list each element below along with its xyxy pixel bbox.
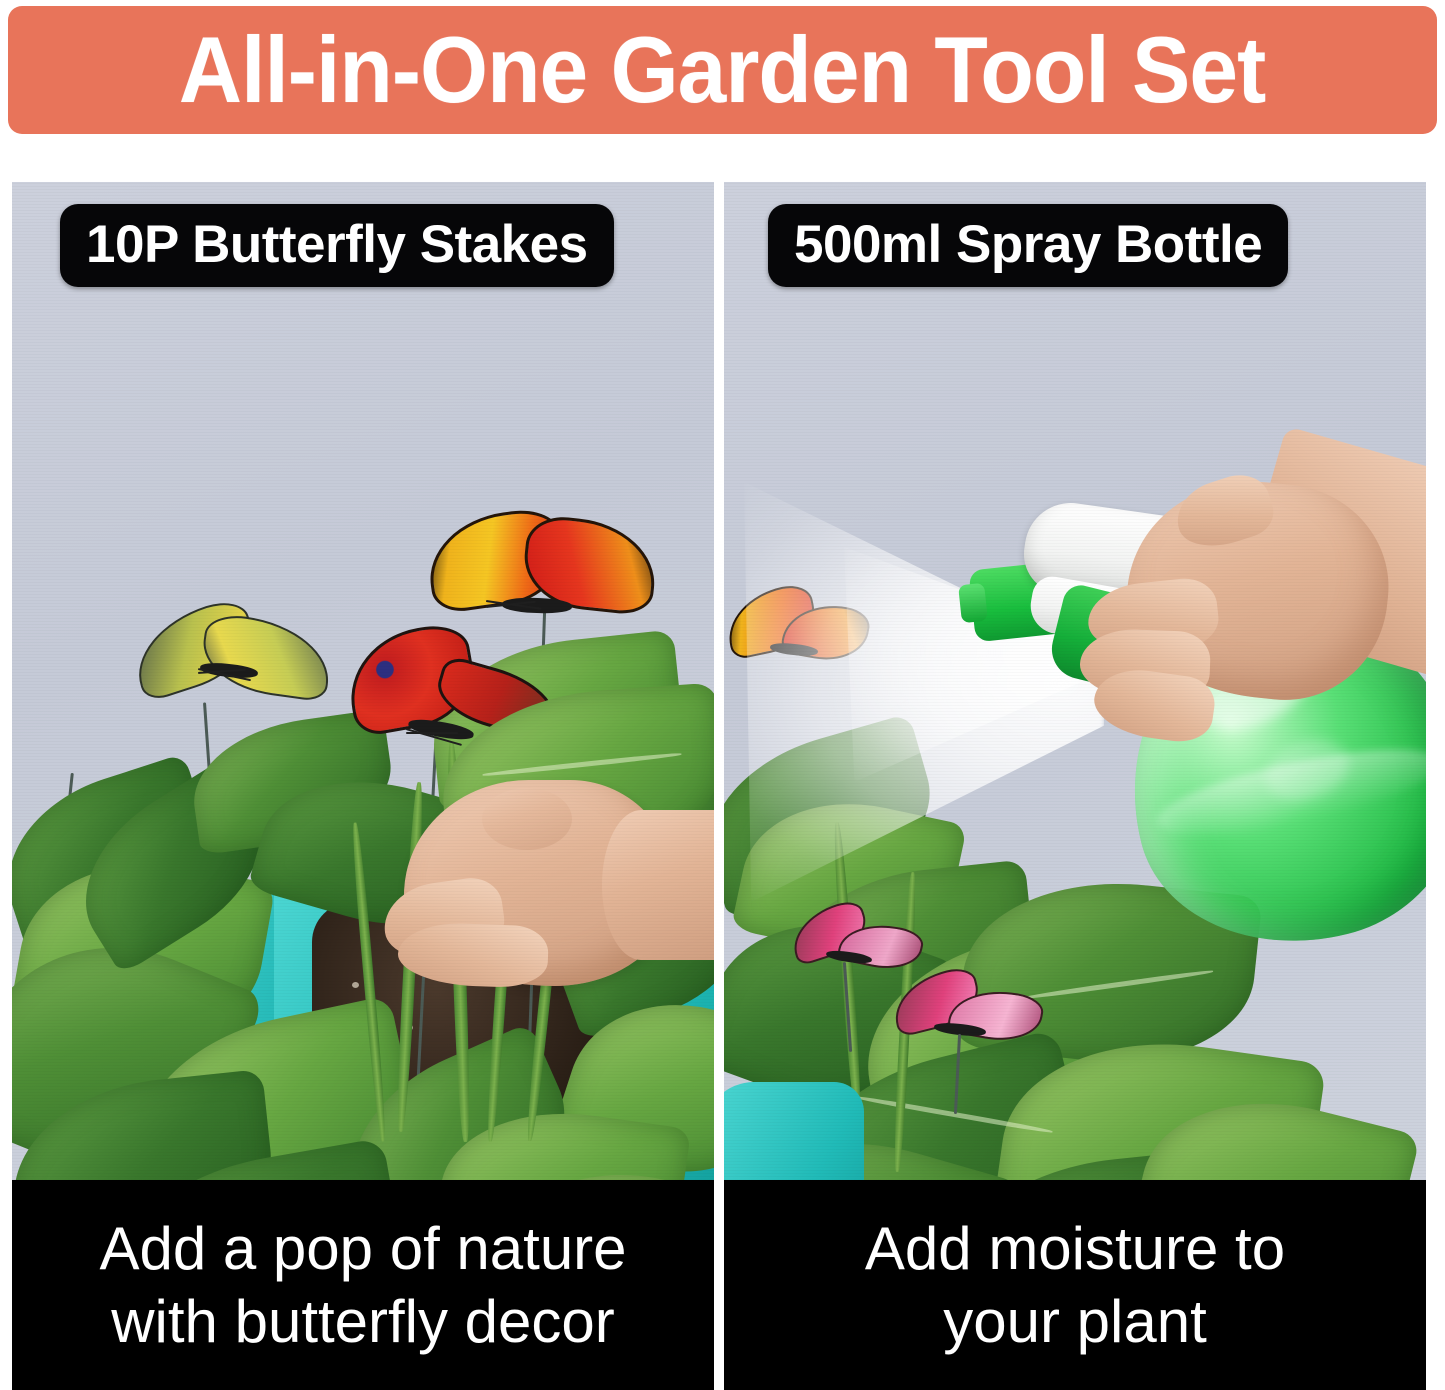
badge-spray-bottle: 500ml Spray Bottle	[768, 204, 1288, 287]
wrist	[602, 810, 714, 960]
planter	[724, 1082, 864, 1180]
photo-spray-bottle	[724, 182, 1426, 1180]
butterfly-antenna	[406, 732, 458, 734]
header-banner: All-in-One Garden Tool Set	[8, 6, 1437, 134]
butterfly-wing	[197, 611, 335, 702]
knuckle	[482, 788, 572, 850]
panel-row: 10P Butterfly Stakes Add a pop of nature…	[12, 182, 1427, 1390]
caption-line-2: with butterfly decor	[111, 1285, 615, 1358]
caption-line-2: your plant	[943, 1285, 1207, 1358]
caption-butterfly-stakes: Add a pop of nature with butterfly decor	[12, 1180, 714, 1390]
butterfly-stake-orange	[428, 512, 648, 642]
badge-label: 10P Butterfly Stakes	[86, 218, 588, 271]
badge-butterfly-stakes: 10P Butterfly Stakes	[60, 204, 614, 287]
photo-butterfly-stakes	[12, 182, 714, 1180]
nozzle-tip	[958, 583, 988, 624]
butterfly-stake-pink-lower	[892, 974, 1042, 1064]
panel-butterfly-stakes: 10P Butterfly Stakes Add a pop of nature…	[12, 182, 714, 1390]
panel-spray-bottle: 500ml Spray Bottle Add moisture to your …	[724, 182, 1426, 1390]
page-title: All-in-One Garden Tool Set	[179, 23, 1265, 117]
soil-grit	[352, 982, 359, 988]
badge-label: 500ml Spray Bottle	[794, 218, 1262, 271]
caption-spray-bottle: Add moisture to your plant	[724, 1180, 1426, 1390]
product-infographic: All-in-One Garden Tool Set	[0, 0, 1445, 1390]
butterfly-stake-yellow	[132, 602, 332, 732]
caption-line-1: Add a pop of nature	[99, 1212, 626, 1285]
caption-line-1: Add moisture to	[865, 1212, 1285, 1285]
